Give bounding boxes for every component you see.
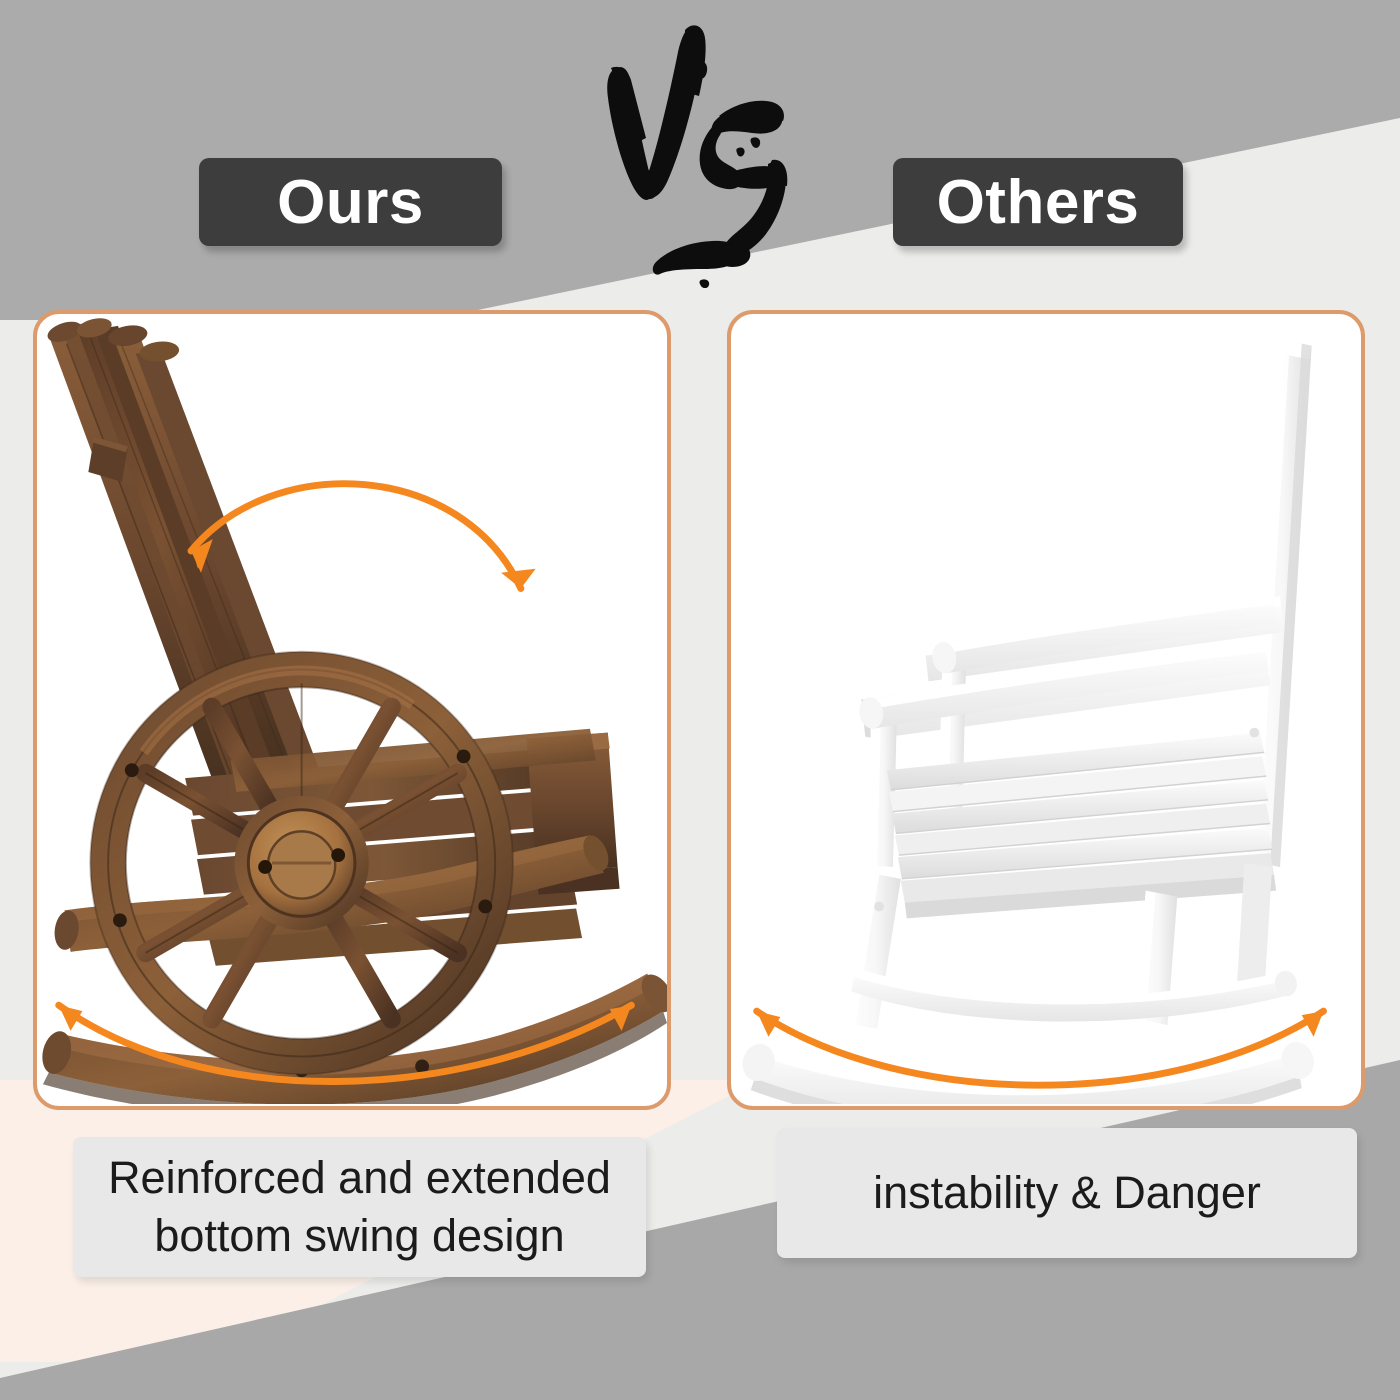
chair-fastener — [1249, 728, 1259, 738]
white-slat-rocking-chair-image — [731, 314, 1361, 1104]
caption-ours-text: Reinforced and extended bottom swing des… — [91, 1149, 628, 1264]
panel-others — [727, 310, 1365, 1110]
label-ours-text: Ours — [277, 167, 424, 238]
comparison-infographic: Ours Others — [0, 0, 1400, 1400]
label-ours: Ours — [199, 158, 502, 246]
wagon-wheel — [90, 652, 513, 1075]
label-others: Others — [893, 158, 1183, 246]
panel-ours — [33, 310, 671, 1110]
wooden-wagon-wheel-rocking-chair-image — [37, 314, 667, 1104]
chair-fastener — [874, 902, 884, 912]
vs-brush-mark-icon — [586, 18, 816, 288]
label-others-text: Others — [937, 167, 1140, 238]
chair-stretcher — [851, 968, 1299, 1022]
caption-others: instability & Danger — [777, 1128, 1357, 1258]
caption-ours: Reinforced and extended bottom swing des… — [73, 1137, 646, 1277]
caption-others-text: instability & Danger — [873, 1164, 1261, 1222]
